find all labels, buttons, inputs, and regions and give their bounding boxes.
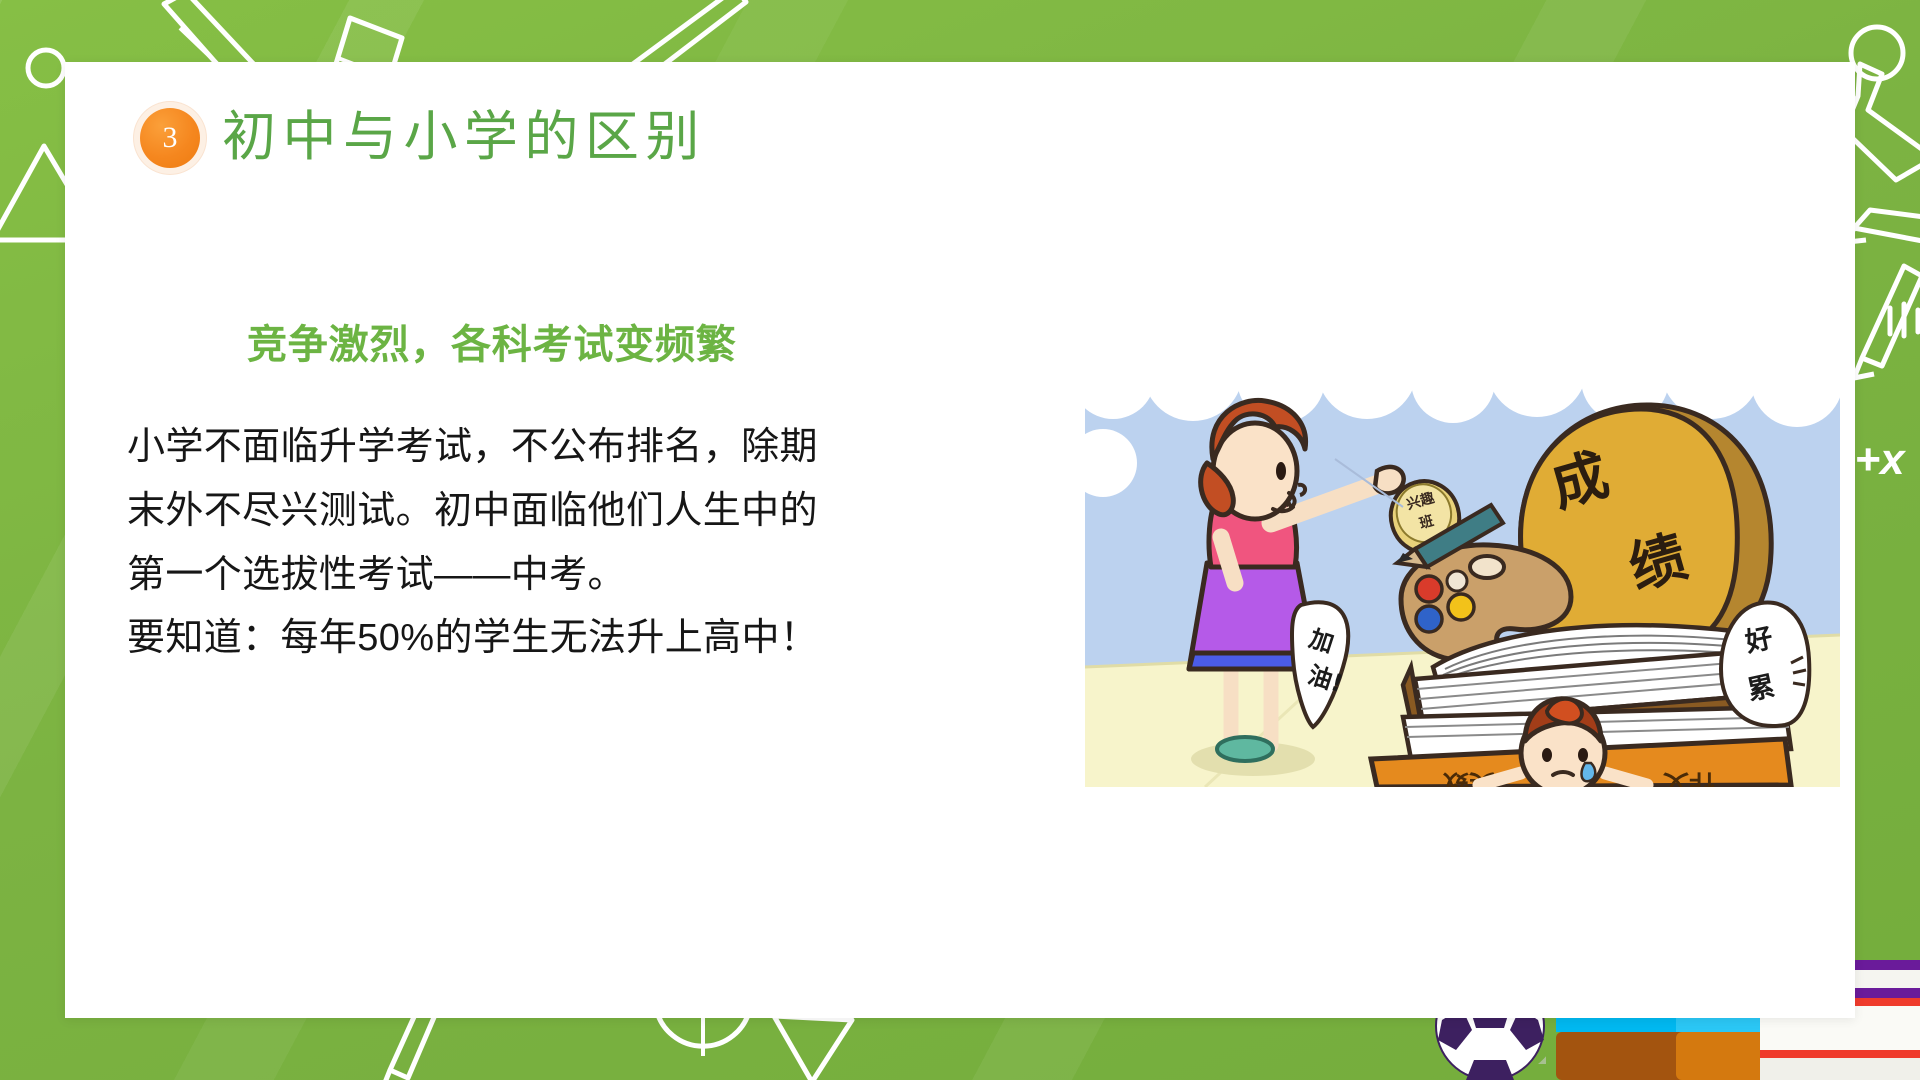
content-subtitle: 竞争激烈，各科考试变频繁: [247, 312, 1057, 370]
page-title: 初中与小学的区别: [222, 108, 706, 167]
illustration-image: 加 油! 兴趣 班 成 绩: [1085, 367, 1840, 787]
body-line: 小学不面临升学考试，不公布排名，除期: [127, 416, 1057, 480]
body-line: 末外不尽兴测试。初中面临他们人生中的: [127, 480, 1057, 544]
svg-text:作文: 作文: [1662, 768, 1715, 787]
slide-header: 3 初中与小学的区别: [140, 108, 706, 168]
content-column: 竞争激烈，各科考试变频繁 小学不面临升学考试，不公布排名，除期 末外不尽兴测试。…: [127, 312, 1057, 671]
slide-card: 3 初中与小学的区别 竞争激烈，各科考试变频繁 小学不面临升学考试，不公布排名，…: [65, 62, 1855, 1018]
section-number-badge: 3: [140, 108, 200, 168]
body-line: 要知道：每年50%的学生无法升上高中！: [127, 607, 1057, 671]
content-body: 小学不面临升学考试，不公布排名，除期 末外不尽兴测试。初中面临他们人生中的 第一…: [127, 416, 1057, 671]
body-line: 第一个选拔性考试——中考。: [127, 544, 1057, 608]
